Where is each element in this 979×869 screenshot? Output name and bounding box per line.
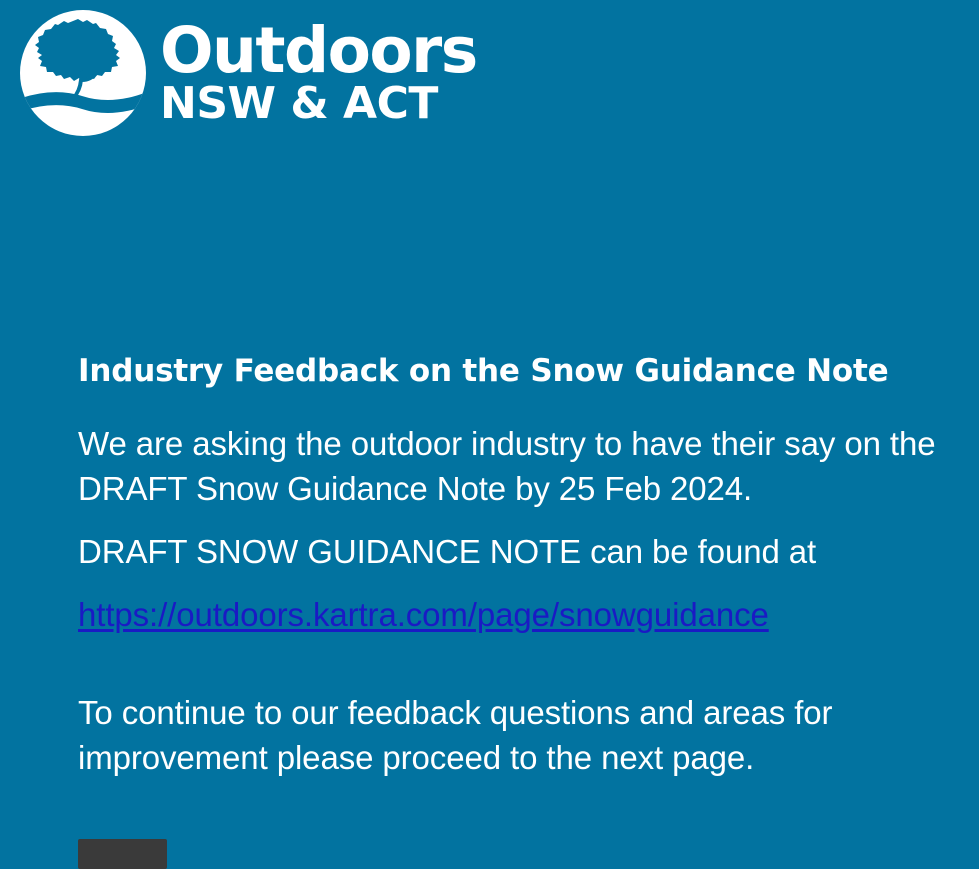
next-page-button[interactable] — [78, 839, 167, 869]
continue-paragraph: To continue to our feedback questions an… — [78, 690, 968, 780]
main-content: Industry Feedback on the Snow Guidance N… — [78, 352, 968, 798]
tree-in-circle-logo-icon — [16, 6, 150, 140]
logo-wordmark: Outdoors NSW & ACT — [160, 22, 477, 126]
link-line: https://outdoors.kartra.com/page/snowgui… — [78, 592, 968, 644]
page-title: Industry Feedback on the Snow Guidance N… — [78, 352, 968, 391]
logo-line-nsw-act: NSW & ACT — [160, 82, 477, 126]
site-logo: Outdoors NSW & ACT — [16, 6, 477, 140]
logo-line-outdoors: Outdoors — [160, 22, 477, 80]
snow-guidance-link[interactable]: https://outdoors.kartra.com/page/snowgui… — [78, 596, 769, 633]
draft-note-paragraph: DRAFT SNOW GUIDANCE NOTE can be found at — [78, 529, 968, 574]
intro-paragraph: We are asking the outdoor industry to ha… — [78, 421, 968, 511]
